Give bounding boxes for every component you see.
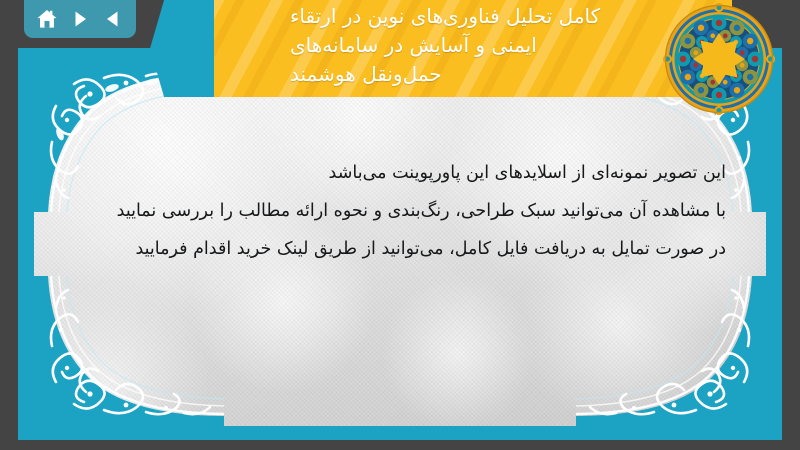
slide-title-banner: کامل تحلیل فناوری‌های نوین در ارتقاء ایم…: [212, 0, 732, 97]
previous-slide-button[interactable]: [100, 6, 126, 32]
slide-content-area: این تصویر نمونه‌ای از اسلایدهای این پاور…: [34, 62, 766, 426]
ornament-medallion: [662, 2, 776, 116]
triangle-right-icon: [70, 9, 90, 29]
body-line: این تصویر نمونه‌ای از اسلایدهای این پاور…: [74, 154, 726, 192]
body-line: در صورت تمایل به دریافت فایل کامل، می‌تو…: [74, 230, 726, 268]
title-line: ایمنی و آسایش در سامانه‌های: [290, 31, 537, 60]
slide-title: کامل تحلیل فناوری‌های نوین در ارتقاء ایم…: [212, 0, 732, 97]
home-button[interactable]: [34, 6, 60, 32]
presentation-viewer: این تصویر نمونه‌ای از اسلایدهای این پاور…: [0, 0, 800, 450]
title-line: حمل‌ونقل هوشمند: [290, 60, 442, 89]
ornament-corner-bottom-right: [576, 276, 766, 426]
triangle-left-icon: [103, 9, 123, 29]
slide-body-text: این تصویر نمونه‌ای از اسلایدهای این پاور…: [74, 154, 726, 268]
home-icon: [36, 8, 58, 30]
slide-navigation-bar: [24, 0, 136, 38]
ornament-corner-bottom-left: [34, 276, 224, 426]
next-slide-button[interactable]: [67, 6, 93, 32]
body-line: با مشاهده آن می‌توانید سبک طراحی، رنگ‌بن…: [74, 192, 726, 230]
title-line: کامل تحلیل فناوری‌های نوین در ارتقاء: [290, 2, 600, 31]
